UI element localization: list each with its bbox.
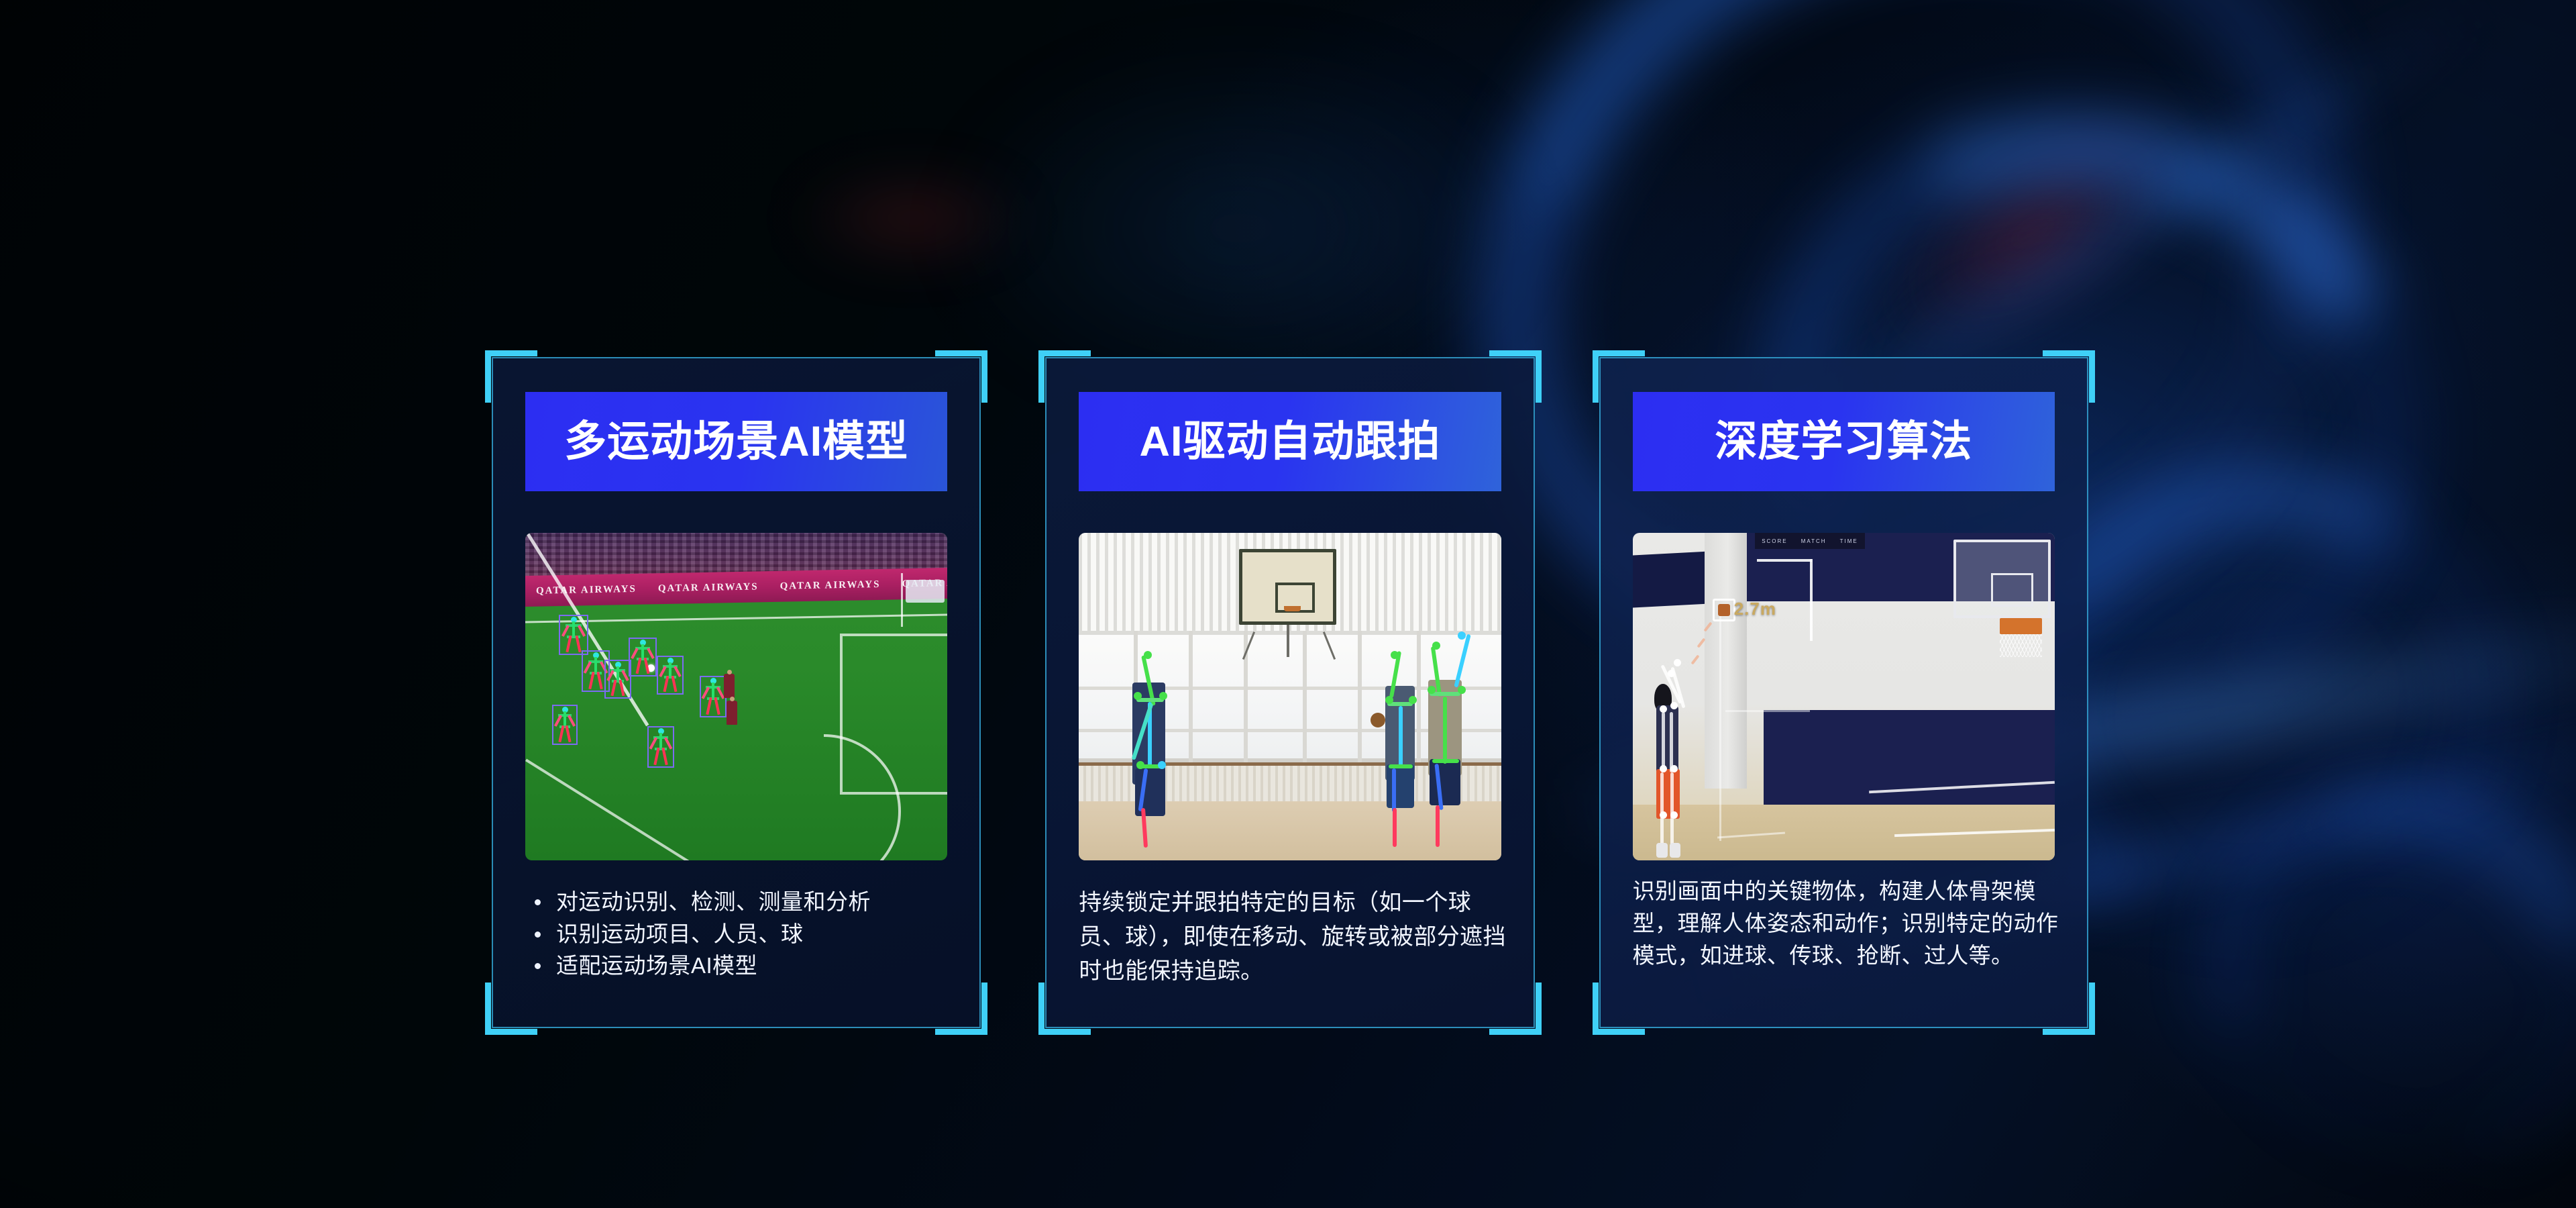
detection-box [700,676,727,717]
bone-shin [1393,808,1397,848]
undetected-player [727,701,737,725]
undetected-player [724,674,735,698]
bone-hip [1432,759,1460,763]
joint-point [1409,696,1417,704]
card-title: AI驱动自动跟拍 [1139,421,1440,463]
card-title: 多运动场景AI模型 [564,421,908,463]
scoreboard-label: TIME [1840,538,1858,544]
bone-spine [1443,697,1447,764]
card-body: 持续锁定并跟拍特定的目标（如一个球员、球），即使在移动、旋转或被部分遮挡时也能保… [1079,886,1506,1008]
detection-box [657,656,684,695]
detection-box [559,615,588,655]
joint-point [1660,811,1667,819]
joint-point [1432,642,1440,650]
bone-arm-raised [1454,634,1470,687]
measure-line-pad-edge [1725,710,1810,712]
window-mullion-vertical [1189,631,1193,762]
detection-box [604,660,631,699]
card-description: 识别画面中的关键物体，构建人体骨架模型，理解人体姿态和动作；识别特定的动作模式，… [1633,875,2060,972]
bone-shin [1436,805,1440,847]
basketball-hoop [1284,606,1300,611]
shooter-shoe [1656,843,1668,857]
card-title-bar: AI驱动自动跟拍 [1079,392,1501,491]
pitch-line-vertical [901,573,903,627]
detection-box [552,705,578,745]
bone-leg-left [1660,772,1664,847]
shooter-pose [1646,677,1697,854]
ball-bounding-box [1713,599,1735,621]
gym-basketball-pose-image [1079,533,1501,860]
joint-point [1391,651,1399,659]
basketball-backboard [1953,540,2051,618]
bone-leg-right [1670,772,1674,847]
scoreboard-label: MATCH [1801,538,1827,544]
bone-spine-left [1662,712,1665,772]
pose-skeleton [701,677,725,716]
feature-bullet-list: 对运动识别、检测、测量和分析 识别运动项目、人员、球 适配运动场景AI模型 [525,886,953,982]
pose-skeleton [606,661,630,697]
banner-text: QATAR AIRWAYS [525,583,647,597]
list-item: 适配运动场景AI模型 [525,950,953,982]
pose-skeleton [630,639,655,675]
joint-point [1458,632,1466,640]
bone-thigh [1392,768,1396,811]
feature-card-multi-sport-ai-model[interactable]: 多运动场景AI模型 QATAR AIRWAYS QATAR AIRWAYS QA… [485,350,987,1035]
card-title-bar: 多运动场景AI模型 [525,392,947,491]
player-shorts [1387,764,1414,807]
card-body: 识别画面中的关键物体，构建人体骨架模型，理解人体姿态和动作；识别特定的动作模式，… [1633,875,2060,1008]
joint-point [1159,692,1167,700]
list-item: 对运动识别、检测、测量和分析 [525,886,953,918]
feature-card-deep-learning-algorithm[interactable]: 深度学习算法 SCORE MATCH TIME [1593,350,2095,1035]
card-title: 深度学习算法 [1715,421,1972,463]
backboard-pole [1287,625,1289,658]
joint-point [1158,761,1166,769]
scoreboard: SCORE MATCH TIME [1755,533,1865,549]
measurement-label: 2.7m [1734,599,1776,619]
joint-point [1670,702,1678,709]
basketball-backboard [1239,549,1336,624]
card-body: 对运动识别、检测、测量和分析 识别运动项目、人员、球 适配运动场景AI模型 [525,886,953,1008]
measure-line-top [1757,559,1812,562]
card-description: 持续锁定并跟拍特定的目标（如一个球员、球），即使在移动、旋转或被部分遮挡时也能保… [1079,886,1506,989]
measure-line-vertical [1810,559,1813,641]
window-mullion-vertical [1358,631,1362,762]
pose-skeleton [560,616,587,654]
bone-spine [1399,706,1403,769]
soccer-pitch-detection-image: QATAR AIRWAYS QATAR AIRWAYS QATAR AIRWAY… [525,533,947,860]
shooter-shoe [1670,843,1681,857]
pose-skeleton [658,657,682,693]
joint-point [1458,686,1466,694]
window-mullion-vertical [1303,631,1307,762]
pose-skeleton-left-player [1121,651,1184,848]
scoreboard-label: SCORE [1762,538,1787,544]
list-item: 识别运动项目、人员、球 [525,918,953,950]
bone-spine-right [1670,712,1673,772]
detection-box [629,638,657,676]
card-title-bar: 深度学习算法 [1633,392,2055,491]
feature-card-list: 多运动场景AI模型 QATAR AIRWAYS QATAR AIRWAYS QA… [485,350,2095,1043]
joint-point [1136,761,1144,769]
feature-card-ai-auto-tracking[interactable]: AI驱动自动跟拍 [1038,350,1541,1035]
joint-point [1144,651,1152,659]
basketball-in-play [1371,713,1385,727]
banner-text: QATAR AIRWAYS [647,581,769,595]
joint-point [1428,686,1436,694]
joint-point [1668,670,1675,677]
basketball-net [2000,634,2042,657]
detection-box [647,726,674,768]
pose-skeleton-right-player-b [1417,638,1476,847]
pose-skeleton [553,706,576,744]
joint-point [1660,705,1667,713]
backboard-inner-square [1991,573,2033,607]
wall-navy-pad [1764,710,2055,808]
measure-line-drop [1719,605,1721,840]
shot-measurement-image: SCORE MATCH TIME 2.7m [1633,533,2055,860]
basketball-rim [2000,618,2042,634]
side-adboard [906,580,945,603]
pose-skeleton [649,727,673,766]
banner-text: QATAR AIRWAYS [769,578,892,592]
wall-pillar [1705,533,1747,789]
pitch-penalty-box [840,634,947,795]
